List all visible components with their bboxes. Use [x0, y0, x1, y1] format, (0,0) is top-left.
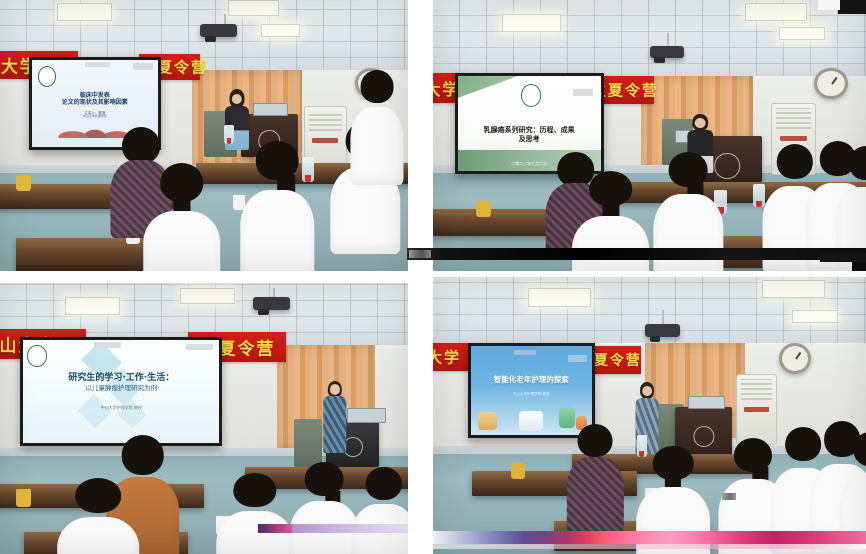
photo-bottom-left[interactable]: 山大学 生夏令营 研究生的学习·工作·生活： 以儿童肿瘤	[0, 283, 408, 554]
ceiling-light-icon	[528, 288, 591, 307]
slide-4: 智能化老年护理的探索 中山大学护理学院 教授	[471, 346, 592, 435]
projection-screen-3: 研究生的学习·工作·生活： 以儿童肿瘤护理研究为例 中山大学护理学院 教授	[23, 340, 219, 443]
slide-tag-3b	[186, 344, 213, 350]
lecture-room-scene-1: 大学 生夏令营 临床中发表 论文的现状及其影响因素 主讲人：教授 中山大学护理学…	[0, 0, 408, 271]
laptop-icon-1	[253, 103, 288, 116]
audience-member	[216, 473, 294, 554]
audience-torso	[840, 474, 866, 554]
audience-head	[361, 70, 394, 103]
audience-torso	[57, 517, 139, 554]
audience-torso	[290, 501, 359, 554]
lecture-room-scene-2: 大学 生夏令营 乳腺癌系列研究：历程、成果 及思考 二零二三年七月六日	[433, 0, 866, 271]
audience-torso	[351, 504, 408, 554]
audience-torso	[636, 487, 710, 554]
slide-title-line2-2: 及思考	[519, 135, 540, 144]
audience-member	[654, 152, 723, 271]
ceiling-light-icon	[261, 24, 300, 37]
slide-tag-3	[94, 342, 121, 348]
presenter-face-2	[695, 118, 706, 128]
projection-screen-4: 智能化老年护理的探索 中山大学护理学院 教授	[471, 346, 592, 435]
presenter-body-3	[323, 396, 346, 453]
slide-title-line1-4: 智能化老年护理的探索	[494, 375, 569, 384]
audience-torso	[567, 457, 623, 533]
university-logo-icon	[521, 84, 542, 107]
ceiling-light-icon	[792, 310, 837, 323]
audience-head	[122, 127, 160, 164]
cup-1a	[16, 175, 30, 191]
slide-tag-1	[133, 63, 153, 70]
banner-text-left-4: 大学	[433, 347, 461, 368]
audience-torso	[241, 190, 314, 271]
cup-3a	[16, 489, 30, 507]
ceiling-light-icon	[762, 280, 825, 299]
audience-torso	[836, 187, 866, 270]
slide-band-top-2	[458, 76, 518, 98]
audience-torso	[351, 107, 404, 185]
projector-icon	[645, 324, 680, 336]
edge-white-block-top-right	[818, 0, 840, 10]
projector-icon	[650, 46, 685, 58]
slide-subtitle-3: 中山大学护理学院 教授	[101, 405, 142, 410]
slide-title-line2-1: 论文的现状及其影响因素	[62, 99, 128, 107]
slide-illustration-4	[478, 412, 497, 430]
projector-icon	[200, 24, 237, 36]
edge-dark-strip-right	[852, 262, 866, 271]
ceiling-light-icon	[65, 297, 120, 315]
audience-member	[143, 163, 221, 271]
ceiling-light-icon	[779, 27, 824, 40]
audience-head	[578, 424, 613, 458]
slide-tag-4b	[514, 350, 536, 355]
audience-head	[122, 435, 165, 475]
audience-member	[351, 467, 408, 554]
audience-member	[637, 446, 711, 554]
ceiling-light-icon	[745, 3, 808, 21]
slide-decoration-3	[78, 394, 112, 428]
audience-head	[75, 478, 121, 513]
slide-tag-2	[573, 89, 593, 96]
university-logo-icon	[27, 345, 47, 367]
presenter-face-1	[231, 94, 241, 105]
audience-member	[572, 171, 650, 271]
audience-torso	[216, 511, 294, 554]
photo-bottom-right[interactable]: 大学 生夏令营 智能化老年护理的探索 中山大学护理学院 教授	[433, 277, 866, 554]
slide-title-line1-2: 乳腺癌系列研究：历程、成果	[484, 126, 575, 135]
audience-member	[567, 424, 623, 529]
ceiling-light-icon	[180, 288, 235, 304]
slide-title-line2-3: 以儿童肿瘤护理研究为例	[86, 384, 158, 392]
audience-member	[241, 141, 314, 271]
presenter-face-4	[642, 386, 652, 396]
audience-member	[290, 462, 359, 554]
university-logo-icon	[38, 66, 56, 87]
audience-torso	[572, 216, 650, 271]
laptop-icon-3	[347, 408, 386, 424]
photo-grid: 大学 生夏令营 临床中发表 论文的现状及其影响因素 主讲人：教授 中山大学护理学…	[0, 0, 866, 554]
audience-head	[233, 473, 276, 507]
ceiling-light-icon	[57, 3, 112, 21]
photo-top-right[interactable]: 大学 生夏令营 乳腺癌系列研究：历程、成果 及思考 二零二三年七月六日	[433, 0, 866, 271]
presenter-3	[318, 381, 351, 460]
water-bottle-1b	[224, 125, 233, 144]
slide-3: 研究生的学习·工作·生活： 以儿童肿瘤护理研究为例 中山大学护理学院 教授	[23, 340, 219, 443]
cup-2a	[476, 201, 490, 217]
slide-tag-top-1	[85, 62, 110, 67]
projector-icon	[253, 297, 290, 311]
slide-title-line1-1: 临床中发表	[80, 92, 110, 100]
slide-tag-4	[568, 355, 587, 362]
cup-4a	[511, 463, 525, 480]
ceiling-light-icon	[228, 0, 279, 16]
audience-member	[836, 146, 866, 265]
audience-member	[351, 70, 404, 178]
lecture-room-scene-4: 大学 生夏令营 智能化老年护理的探索 中山大学护理学院 教授	[433, 277, 866, 554]
audience-member	[57, 478, 139, 554]
audience-torso	[654, 194, 723, 271]
podium-emblem-icon	[693, 426, 714, 447]
laptop-icon-4	[688, 396, 725, 409]
slide-title-line1-3: 研究生的学习·工作·生活：	[68, 373, 174, 384]
ceiling-light-icon	[502, 14, 560, 32]
audience-member	[840, 432, 866, 554]
red-banner-left-4: 大学	[433, 343, 472, 371]
projection-screen-frame-3: 研究生的学习·工作·生活： 以儿童肿瘤护理研究为例 中山大学护理学院 教授	[20, 337, 222, 446]
audience-head	[849, 146, 866, 179]
audience-head	[854, 432, 866, 466]
slide-subtitle-4: 中山大学护理学院 教授	[513, 392, 550, 397]
glitch-block-left-of-band	[409, 250, 431, 258]
slide-illustration-4	[519, 411, 543, 430]
audience-head	[365, 467, 402, 500]
photo-top-left[interactable]: 大学 生夏令营 临床中发表 论文的现状及其影响因素 主讲人：教授 中山大学护理学…	[0, 0, 408, 271]
lecture-room-scene-3: 山大学 生夏令营 研究生的学习·工作·生活： 以儿童肿瘤	[0, 283, 408, 554]
audience-torso	[143, 211, 221, 271]
